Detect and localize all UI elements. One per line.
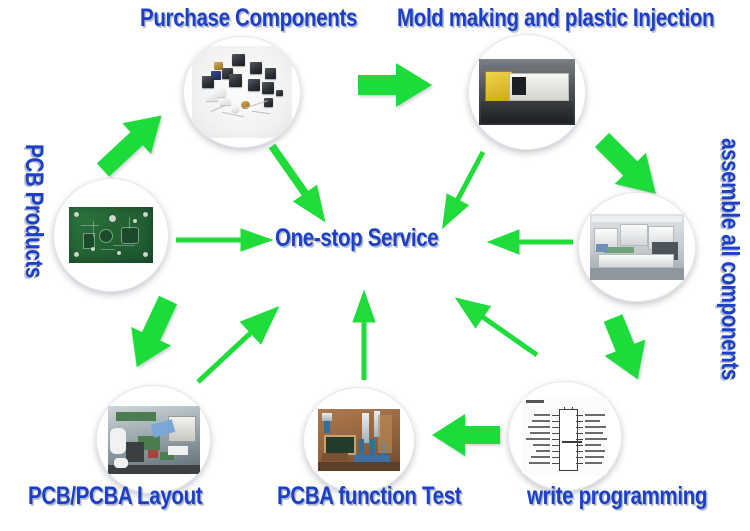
ic-pinout-diagram (522, 397, 608, 475)
arrow-pcb-to-center (176, 229, 272, 251)
node-assemble-components[interactable] (578, 192, 696, 302)
node-label-pcb-pcba-layout: PCB/PCBA Layout (28, 484, 241, 509)
node-label-pcba-function-test: PCBA function Test (277, 484, 502, 509)
node-label-assemble-components: assemble all components (717, 138, 742, 433)
arrow-purchase-to-mold (358, 63, 432, 107)
arrow-purchase-to-center (261, 138, 337, 229)
arrow-fntest-to-center (353, 291, 375, 380)
diagram-canvas: Purchase Components Mold making and plas… (0, 0, 750, 531)
center-hub-label: One-stop Service (275, 226, 474, 251)
arrow-fntest-to-layout (117, 291, 188, 377)
injection-molding-machine-photo (479, 59, 575, 125)
arrow-assemble-to-center (488, 230, 573, 254)
electronic-components-photo (192, 46, 292, 138)
arrow-assemble-to-program (593, 310, 659, 388)
node-pcb-products[interactable] (53, 178, 169, 292)
arrow-program-to-fntest (432, 414, 500, 456)
node-mold-making[interactable] (468, 34, 586, 150)
node-purchase-components[interactable] (183, 36, 301, 148)
node-pcba-function-test[interactable] (303, 387, 415, 493)
arrow-program-to-center (448, 288, 544, 366)
node-label-write-programming: write programming (527, 484, 747, 509)
test-fixture-photo (318, 409, 400, 471)
arrow-mold-to-center (432, 146, 494, 233)
node-write-programming[interactable] (508, 381, 622, 491)
node-pcb-pcba-layout[interactable] (96, 385, 211, 494)
assembly-line-photo (590, 214, 684, 280)
node-label-pcb-products: PCB Products (21, 144, 46, 307)
node-label-mold-making: Mold making and plastic Injection (397, 6, 750, 31)
node-label-purchase-components: Purchase Components (140, 6, 405, 31)
pcb-workbench-photo (108, 406, 200, 474)
green-pcb-photo (69, 207, 153, 263)
arrow-layout-to-center (188, 296, 289, 393)
arrow-pcb-to-purchase (89, 100, 176, 185)
